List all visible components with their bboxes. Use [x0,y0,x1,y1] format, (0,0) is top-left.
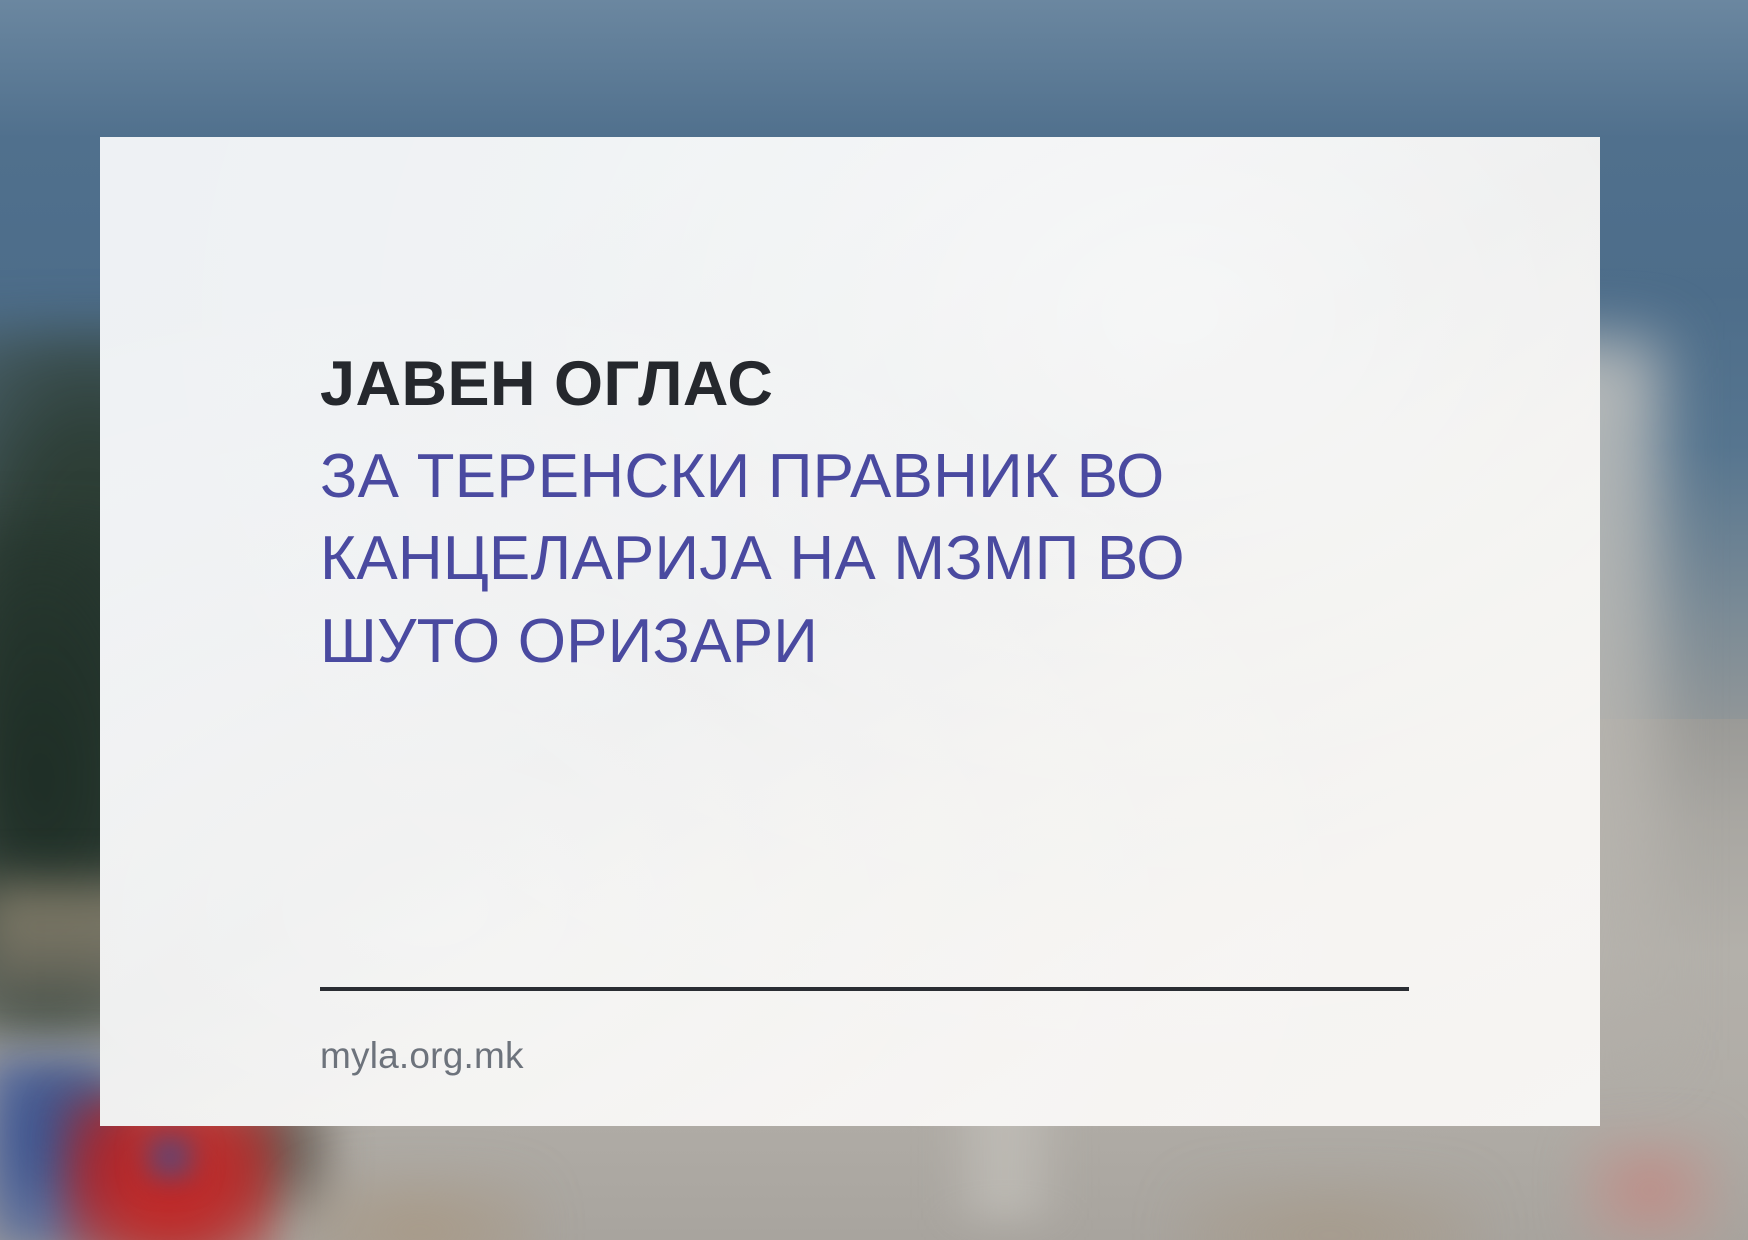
website-url[interactable]: myla.org.mk [320,1035,524,1077]
announcement-card: ЈАВЕН ОГЛАС ЗА ТЕРЕНСКИ ПРАВНИК ВО КАНЦЕ… [100,137,1600,1126]
horizontal-rule [320,987,1409,991]
backdrop-pink-blur [1575,1130,1725,1240]
subtitle-line-3: ШУТО ОРИЗАРИ [320,601,1320,683]
card-content: ЈАВЕН ОГЛАС ЗА ТЕРЕНСКИ ПРАВНИК ВО КАНЦЕ… [320,137,1600,1126]
subtitle-line-1: ЗА ТЕРЕНСКИ ПРАВНИК ВО [320,436,1320,518]
backdrop-jacket-emblem [140,1128,200,1186]
backdrop-tan-blur-right [1180,1180,1480,1240]
backdrop-tan-blur-left [300,1175,540,1240]
poster-subtitle: ЗА ТЕРЕНСКИ ПРАВНИК ВО КАНЦЕЛАРИЈА НА МЗ… [320,436,1320,683]
page-title: ЈАВЕН ОГЛАС [320,353,773,416]
subtitle-line-2: КАНЦЕЛАРИЈА НА МЗМП ВО [320,518,1320,600]
